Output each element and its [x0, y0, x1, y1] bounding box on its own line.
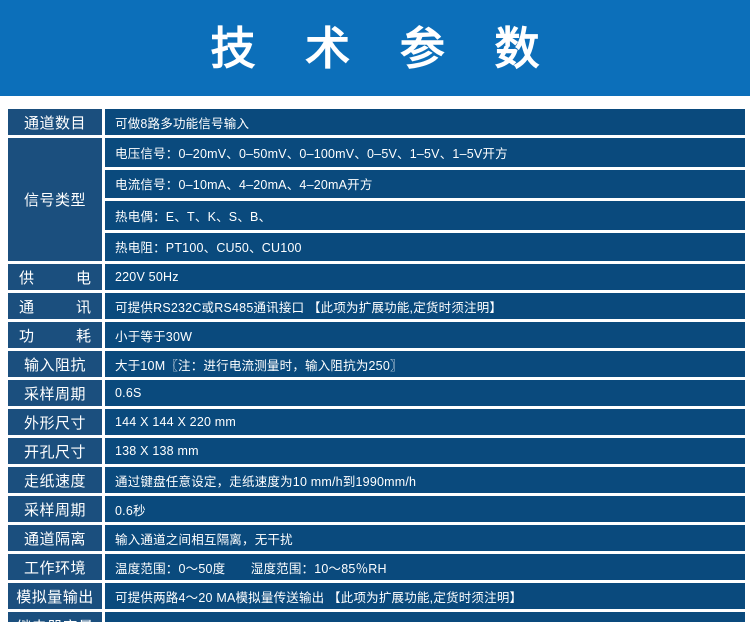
spec-label-sampling-period-2: 采样周期	[8, 496, 105, 525]
spec-label-sampling-period: 采样周期	[8, 380, 105, 409]
spec-label-power-supply-text: 供 电	[19, 267, 91, 288]
table-row: 采样周期 0.6S	[8, 380, 745, 409]
spec-label-outline-dimensions: 外形尺寸	[8, 409, 105, 438]
table-row: 继电器容量 24VDC，3A 220VAC，3A	[8, 612, 745, 622]
spec-value-channel-count: 可做8路多功能信号输入	[105, 109, 745, 138]
spec-value-sampling-period-2: 0.6秒	[105, 496, 745, 525]
spec-value-input-impedance: 大于10M〖注：进行电流测量时，输入阻抗为250〗	[105, 351, 745, 380]
page-title: 技 术 参 数	[194, 26, 557, 71]
spec-label-communication: 通 讯	[8, 293, 105, 322]
spec-table-container: 通道数目 可做8路多功能信号输入 信号类型 电压信号：0–20mV、0–50mV…	[0, 96, 750, 622]
spec-label-cutout-dimensions: 开孔尺寸	[8, 438, 105, 467]
table-row: 热电阻：PT100、CU50、CU100	[8, 233, 745, 265]
spec-value-signal-type-voltage: 电压信号：0–20mV、0–50mV、0–100mV、0–5V、1–5V、1–5…	[105, 138, 745, 170]
technical-spec-table: 通道数目 可做8路多功能信号输入 信号类型 电压信号：0–20mV、0–50mV…	[8, 109, 745, 622]
table-row: 输入阻抗 大于10M〖注：进行电流测量时，输入阻抗为250〗	[8, 351, 745, 380]
table-row: 开孔尺寸 138 X 138 mm	[8, 438, 745, 467]
spec-label-channel-isolation: 通道隔离	[8, 525, 105, 554]
table-row: 采样周期 0.6秒	[8, 496, 745, 525]
spec-value-paper-speed: 通过键盘任意设定，走纸速度为10 mm/h到1990mm/h	[105, 467, 745, 496]
table-row: 供 电 220V 50Hz	[8, 264, 745, 293]
spec-table-body: 通道数目 可做8路多功能信号输入 信号类型 电压信号：0–20mV、0–50mV…	[8, 109, 745, 622]
spec-value-signal-type-thermocouple: 热电偶：E、T、K、S、B、	[105, 201, 745, 233]
spec-value-operating-environment: 温度范围：0～50度 湿度范围：10～85％RH	[105, 554, 745, 583]
spec-value-channel-isolation: 输入通道之间相互隔离，无干扰	[105, 525, 745, 554]
table-row: 走纸速度 通过键盘任意设定，走纸速度为10 mm/h到1990mm/h	[8, 467, 745, 496]
spec-value-power-supply: 220V 50Hz	[105, 264, 745, 293]
spec-value-relay-capacity: 24VDC，3A 220VAC，3A	[105, 612, 745, 622]
spec-value-signal-type-rtd: 热电阻：PT100、CU50、CU100	[105, 233, 745, 265]
spec-label-power-supply: 供 电	[8, 264, 105, 293]
spec-label-paper-speed: 走纸速度	[8, 467, 105, 496]
table-row: 通 讯 可提供RS232C或RS485通讯接口 【此项为扩展功能,定货时须注明】	[8, 293, 745, 322]
spec-value-sampling-period: 0.6S	[105, 380, 745, 409]
spec-label-relay-capacity: 继电器容量	[8, 612, 105, 622]
table-row: 功 耗 小于等于30W	[8, 322, 745, 351]
table-row: 电流信号：0–10mA、4–20mA、4–20mA开方	[8, 170, 745, 202]
spec-value-cutout-dimensions: 138 X 138 mm	[105, 438, 745, 467]
spec-value-analog-output: 可提供两路4～20 MA模拟量传送输出 【此项为扩展功能,定货时须注明】	[105, 583, 745, 612]
spec-value-signal-type-current: 电流信号：0–10mA、4–20mA、4–20mA开方	[105, 170, 745, 202]
spec-value-outline-dimensions: 144 X 144 X 220 mm	[105, 409, 745, 438]
table-row: 工作环境 温度范围：0～50度 湿度范围：10～85％RH	[8, 554, 745, 583]
table-row: 外形尺寸 144 X 144 X 220 mm	[8, 409, 745, 438]
spec-label-power-consumption-text: 功 耗	[19, 325, 91, 346]
spec-label-input-impedance: 输入阻抗	[8, 351, 105, 380]
technical-parameters-page: 技 术 参 数 通道数目 可做8路多功能信号输入 信号类型 电压信号：0–20m…	[0, 0, 750, 622]
table-row: 信号类型 电压信号：0–20mV、0–50mV、0–100mV、0–5V、1–5…	[8, 138, 745, 170]
table-row: 模拟量输出 可提供两路4～20 MA模拟量传送输出 【此项为扩展功能,定货时须注…	[8, 583, 745, 612]
spec-label-channel-count: 通道数目	[8, 109, 105, 138]
spec-label-operating-environment: 工作环境	[8, 554, 105, 583]
spec-value-communication: 可提供RS232C或RS485通讯接口 【此项为扩展功能,定货时须注明】	[105, 293, 745, 322]
table-row: 热电偶：E、T、K、S、B、	[8, 201, 745, 233]
spec-label-signal-type: 信号类型	[8, 138, 105, 264]
page-header-banner: 技 术 参 数	[0, 0, 750, 96]
spec-label-communication-text: 通 讯	[19, 296, 91, 317]
table-row: 通道数目 可做8路多功能信号输入	[8, 109, 745, 138]
table-row: 通道隔离 输入通道之间相互隔离，无干扰	[8, 525, 745, 554]
spec-value-power-consumption: 小于等于30W	[105, 322, 745, 351]
spec-label-analog-output: 模拟量输出	[8, 583, 105, 612]
spec-label-power-consumption: 功 耗	[8, 322, 105, 351]
